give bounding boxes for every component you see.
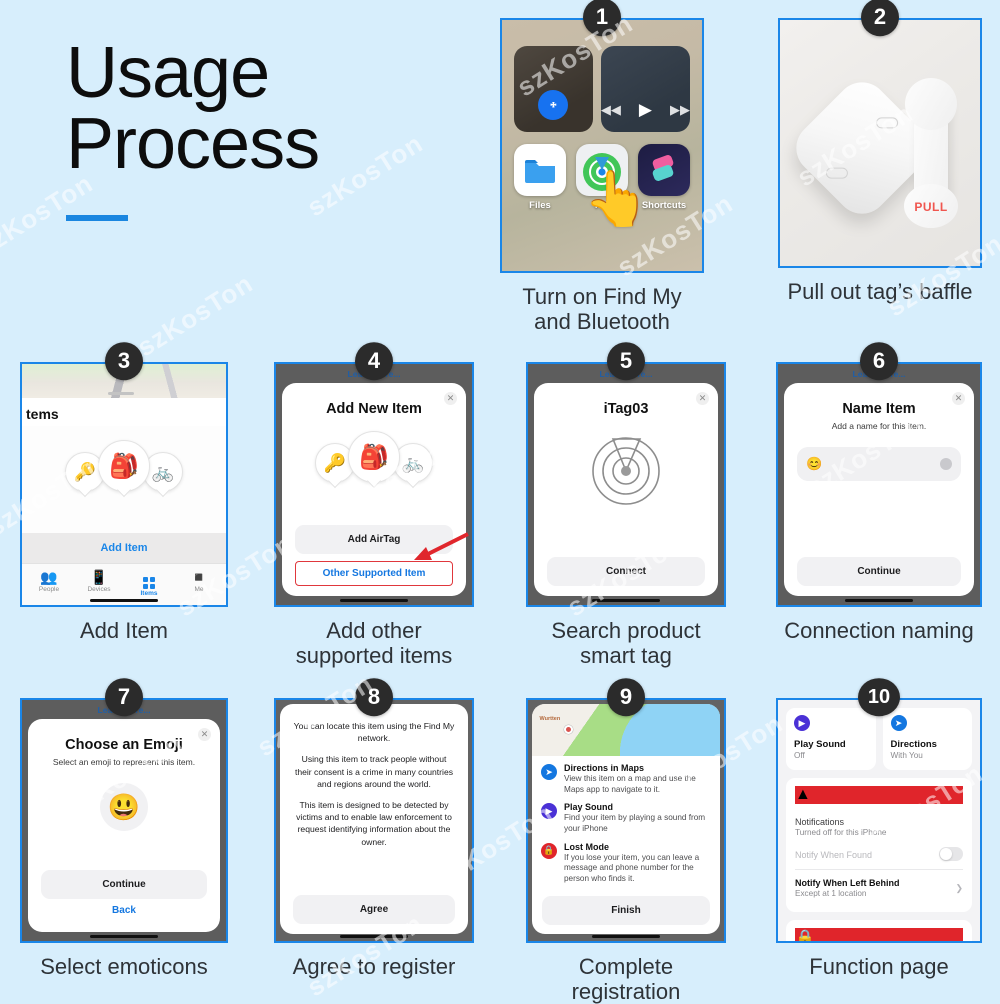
continue-button[interactable]: Continue — [41, 870, 207, 899]
step-badge: 8 — [355, 678, 393, 716]
step-8-caption: Agree to register — [274, 955, 474, 980]
legal-sheet: You can locate this item using the Find … — [280, 704, 468, 934]
notifications-label: Notifications — [795, 817, 963, 827]
add-item-button[interactable]: Add Item — [22, 533, 226, 563]
play-icon[interactable]: ▶ — [639, 100, 652, 120]
map-pin-icon — [564, 725, 573, 734]
caption-line-2: and Bluetooth — [500, 310, 704, 335]
lost-mode-icon: 🔒 — [541, 843, 557, 859]
step-6-caption: Connection naming — [776, 619, 982, 644]
page-title-line-2: Process — [66, 109, 466, 180]
tab-label: People — [24, 586, 74, 593]
home-indicator — [592, 935, 660, 939]
home-indicator — [340, 599, 408, 603]
caption-line-1: Connection naming — [776, 619, 982, 644]
step-1: 1 ᛭ ◀◀ ▶ ▶▶ — [500, 18, 704, 334]
connectivity-tile[interactable]: ᛭ — [514, 46, 593, 132]
caption-line-1: Add Item — [20, 619, 228, 644]
clear-icon[interactable] — [940, 458, 952, 470]
step-4: 4 Learn More... ✕ Add New Item 🔑 🎒 🚲 Add… — [274, 362, 474, 668]
sheet-subtitle: Add a name for this item. — [797, 421, 961, 431]
close-icon[interactable]: ✕ — [952, 392, 965, 405]
directions-arrow-icon: ➤ — [891, 715, 907, 731]
folder-icon — [514, 144, 566, 196]
continue-button[interactable]: Continue — [797, 557, 961, 586]
pull-label: PULL — [907, 200, 955, 214]
notify-when-found-toggle[interactable] — [939, 847, 963, 861]
tab-label: Devices — [74, 586, 124, 593]
step-7-caption: Select emoticons — [20, 955, 228, 980]
findmy-items-screen: tems 🔑 🎒 🚲 Add Item 👥 People 📱 Devices — [22, 364, 226, 605]
caption-line-1: Complete registration — [526, 955, 726, 1004]
close-icon[interactable]: ✕ — [444, 392, 457, 405]
step-badge: 3 — [105, 342, 143, 380]
directions-card[interactable]: ➤ Directions With You — [883, 708, 973, 770]
selected-emoji[interactable]: 😃 — [100, 783, 148, 831]
play-sound-icon: ▶ — [541, 803, 557, 819]
step-7-screenshot: Learn More... ✕ Choose an Emoji Select a… — [20, 698, 228, 943]
tab-label: Items — [124, 590, 174, 597]
radar-scan-icon — [589, 431, 663, 505]
notify-when-found-label: Notify When Found — [795, 850, 872, 860]
step-9-caption: Complete registration — [526, 955, 726, 1004]
step-6-screenshot: Learn More... ✕ Name Item Add a name for… — [776, 362, 982, 607]
legal-paragraph: You can locate this item using the Find … — [293, 720, 455, 744]
tab-people[interactable]: 👥 People — [24, 569, 74, 598]
notify-when-found-row[interactable]: Notify When Found — [795, 837, 963, 869]
title-underline — [66, 215, 128, 221]
tab-me[interactable]: ◾ Me — [174, 569, 224, 598]
card-status: With You — [891, 751, 965, 760]
step-9-screenshot: Wurtten ➤ Directions in Maps View this i… — [526, 698, 726, 943]
add-new-item-sheet: ✕ Add New Item 🔑 🎒 🚲 Add AirTag Other Su… — [282, 383, 466, 596]
step-3: 3 tems 🔑 🎒 🚲 Add Item 👥 People 📱 — [20, 362, 228, 644]
folder-glyph — [523, 156, 557, 184]
step-badge: 7 — [105, 678, 143, 716]
name-item-screen: Learn More... ✕ Name Item Add a name for… — [778, 364, 980, 605]
shortcuts-glyph — [646, 153, 682, 187]
sheet-title: Add New Item — [295, 401, 453, 417]
caption-line-2: supported items — [274, 644, 474, 669]
legal-agreement-screen: You can locate this item using the Find … — [276, 700, 472, 941]
bluetooth-icon[interactable]: ᛭ — [538, 90, 568, 120]
page-title-line-1: Usage — [66, 38, 466, 109]
item-emoji-bubbles: 🔑 🎒 🚲 — [295, 431, 453, 483]
feature-row-play-sound: ▶ Play Sound Find your item by playing a… — [532, 795, 720, 834]
caption-line-1: Add other — [274, 619, 474, 644]
notify-left-behind-sub: Except at 1 location — [795, 889, 949, 898]
step-5-screenshot: Learn More... ✕ iTag03 Connect — [526, 362, 726, 607]
highlight-box: Other Supported Item — [295, 561, 453, 586]
close-icon[interactable]: ✕ — [696, 392, 709, 405]
media-tile[interactable]: ◀◀ ▶ ▶▶ — [601, 46, 690, 132]
tag-baffle: PULL — [914, 84, 948, 212]
previous-track-icon[interactable]: ◀◀ — [601, 102, 621, 118]
items-grid-icon — [124, 569, 174, 590]
step-1-screenshot: ᛭ ◀◀ ▶ ▶▶ — [500, 18, 704, 273]
notify-left-behind-row[interactable]: Notify When Left Behind Except at 1 loca… — [795, 869, 963, 904]
step-7: 7 Learn More... ✕ Choose an Emoji Select… — [20, 698, 228, 980]
step-badge: 4 — [355, 342, 393, 380]
play-sound-icon: ▶ — [794, 715, 810, 731]
lost-mode-section[interactable]: 🔒 Lost Mode — [786, 920, 972, 943]
step-badge: 6 — [860, 342, 898, 380]
name-item-sheet: ✕ Name Item Add a name for this item. 😊 … — [784, 383, 974, 596]
watermark-text: szKosTon — [132, 268, 259, 363]
home-indicator — [340, 935, 408, 939]
feature-title: Lost Mode — [564, 842, 711, 852]
tag-button — [826, 167, 848, 178]
notify-left-behind-label: Notify When Left Behind — [795, 878, 949, 888]
feature-title: Directions in Maps — [564, 763, 711, 773]
lost-mode-icon: 🔒 — [795, 928, 963, 943]
page-title: Usage Process — [66, 38, 466, 179]
connect-button[interactable]: Connect — [547, 557, 705, 586]
sheet-title: Choose an Emoji — [41, 737, 207, 753]
step-3-screenshot: tems 🔑 🎒 🚲 Add Item 👥 People 📱 Devices — [20, 362, 228, 607]
people-icon: 👥 — [24, 569, 74, 585]
step-badge: 1 — [583, 0, 621, 36]
add-new-item-screen: Learn More... ✕ Add New Item 🔑 🎒 🚲 Add A… — [276, 364, 472, 605]
step-badge: 9 — [607, 678, 645, 716]
step-4-screenshot: Learn More... ✕ Add New Item 🔑 🎒 🚲 Add A… — [274, 362, 474, 607]
feature-title: Play Sound — [564, 802, 711, 812]
caption-line-1: Turn on Find My — [500, 285, 704, 310]
emoji-prefix[interactable]: 😊 — [806, 456, 822, 472]
person-circle-icon: ◾ — [174, 569, 224, 585]
step-badge: 10 — [858, 678, 900, 716]
notifications-section: ▲ Notifications Turned off for this iPho… — [786, 778, 972, 912]
legal-text: You can locate this item using the Find … — [280, 704, 468, 857]
add-airtag-button[interactable]: Add AirTag — [295, 525, 453, 554]
action-cards: ▶ Play Sound Off ➤ Directions With You — [786, 708, 972, 770]
step-10-screenshot: ▶ Play Sound Off ➤ Directions With You ▲… — [776, 698, 982, 943]
card-title: Directions — [891, 739, 965, 750]
step-10-caption: Function page — [776, 955, 982, 980]
white-smart-tag: PULL — [780, 20, 980, 266]
sheet-title: Name Item — [797, 401, 961, 417]
tab-items[interactable]: Items — [124, 569, 174, 598]
close-icon[interactable]: ✕ — [198, 728, 211, 741]
app-files[interactable]: Files — [514, 144, 566, 211]
step-9: 9 Wurtten ➤ Directions in Maps View this… — [526, 698, 726, 1004]
step-6: 6 Learn More... ✕ Name Item Add a name f… — [776, 362, 982, 644]
step-5: 5 Learn More... ✕ iTag03 Connect — [526, 362, 726, 668]
home-indicator — [90, 935, 158, 939]
step-2: 2 PULL Pull out tag’s baffle — [778, 18, 982, 305]
legal-paragraph: Using this item to track people without … — [293, 753, 455, 790]
connect-sheet: ✕ iTag03 Connect — [534, 383, 718, 596]
choose-emoji-screen: Learn More... ✕ Choose an Emoji Select a… — [22, 700, 226, 941]
ios-control-center: ᛭ ◀◀ ▶ ▶▶ — [502, 20, 702, 271]
features-sheet: Wurtten ➤ Directions in Maps View this i… — [532, 704, 720, 934]
caption-line-1: Search product — [526, 619, 726, 644]
other-supported-item-button[interactable]: Other Supported Item — [296, 562, 452, 585]
app-icon-row: Files Fin — [514, 144, 690, 211]
home-indicator — [845, 599, 913, 603]
step-10: 10 ▶ Play Sound Off ➤ Directions With Yo… — [776, 698, 982, 980]
caption-line-1: Agree to register — [274, 955, 474, 980]
items-header: tems — [22, 398, 226, 426]
title-block: Usage Process — [66, 38, 466, 221]
control-center-tiles: ᛭ ◀◀ ▶ ▶▶ — [514, 46, 690, 132]
caption-line-2: smart tag — [526, 644, 726, 669]
connect-tag-screen: Learn More... ✕ iTag03 Connect — [528, 364, 724, 605]
item-emoji-bubbles: 🔑 🎒 🚲 — [22, 440, 226, 492]
features-screen: Wurtten ➤ Directions in Maps View this i… — [528, 700, 724, 941]
emoji-bubble-backpack: 🎒 — [98, 440, 150, 492]
app-label: Files — [514, 200, 566, 211]
radar-glyph — [589, 431, 663, 505]
back-button[interactable]: Back — [41, 899, 207, 922]
tab-label: Me — [174, 586, 224, 593]
feature-row-lost-mode: 🔒 Lost Mode If you lose your item, you c… — [532, 835, 720, 885]
card-status: Off — [794, 751, 868, 760]
items-body: 🔑 🎒 🚲 — [22, 426, 226, 533]
home-indicator — [90, 599, 158, 603]
step-badge: 2 — [861, 0, 899, 36]
feature-desc: If you lose your item, you can leave a m… — [564, 853, 711, 885]
pointing-hand-cursor: 👆 — [583, 172, 650, 226]
step-8-screenshot: You can locate this item using the Find … — [274, 698, 474, 943]
item-function-page: ▶ Play Sound Off ➤ Directions With You ▲… — [778, 700, 980, 941]
feature-desc: View this item on a map and use the Maps… — [564, 774, 711, 795]
notifications-sub: Turned off for this iPhone — [795, 828, 963, 837]
home-indicator — [592, 599, 660, 603]
sheet-subtitle: Select an emoji to represent this item. — [41, 757, 207, 767]
devices-icon: 📱 — [74, 569, 124, 585]
media-controls[interactable]: ◀◀ ▶ ▶▶ — [601, 100, 690, 120]
name-input-field[interactable]: 😊 — [797, 447, 961, 481]
finish-button[interactable]: Finish — [542, 896, 710, 925]
directions-arrow-icon: ➤ — [541, 764, 557, 780]
legal-paragraph: This item is designed to be detected by … — [293, 799, 455, 848]
tab-devices[interactable]: 📱 Devices — [74, 569, 124, 598]
next-track-icon[interactable]: ▶▶ — [670, 102, 690, 118]
step-1-caption: Turn on Find My and Bluetooth — [500, 285, 704, 334]
feature-row-directions: ➤ Directions in Maps View this item on a… — [532, 756, 720, 795]
feature-desc: Find your item by playing a sound from y… — [564, 813, 711, 834]
notification-bell-icon: ▲ — [795, 786, 963, 804]
step-8: 8 You can locate this item using the Fin… — [274, 698, 474, 980]
step-3-caption: Add Item — [20, 619, 228, 644]
caption-line-1: Function page — [776, 955, 982, 980]
step-badge: 5 — [607, 342, 645, 380]
chevron-right-icon: ❯ — [955, 883, 963, 894]
caption-line-1: Select emoticons — [20, 955, 228, 980]
step-4-caption: Add other supported items — [274, 619, 474, 668]
tag-slot-top — [876, 117, 898, 128]
step-2-caption: Pull out tag’s baffle — [778, 280, 982, 305]
card-title: Play Sound — [794, 739, 868, 750]
emoji-bubble-backpack: 🎒 — [348, 431, 400, 483]
map-place-label: Wurtten — [540, 716, 561, 722]
tag-name: iTag03 — [547, 401, 705, 417]
choose-emoji-sheet: ✕ Choose an Emoji Select an emoji to rep… — [28, 719, 220, 932]
agree-button[interactable]: Agree — [293, 895, 455, 924]
step-5-caption: Search product smart tag — [526, 619, 726, 668]
play-sound-card[interactable]: ▶ Play Sound Off — [786, 708, 876, 770]
caption-line-1: Pull out tag’s baffle — [778, 280, 982, 305]
step-2-screenshot: PULL — [778, 18, 982, 268]
